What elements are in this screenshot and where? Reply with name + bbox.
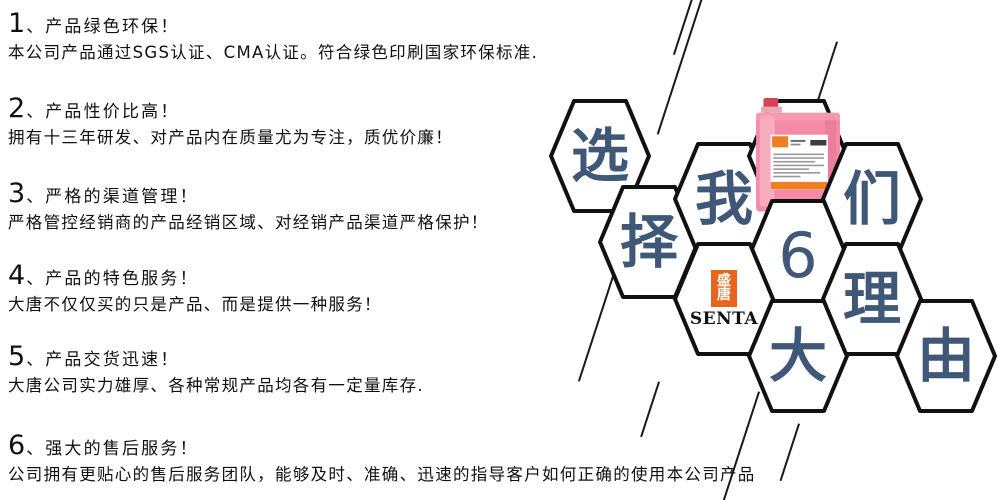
brand-seal-icon: 盛 唐 [711,270,737,307]
brand-seal-top: 盛 [717,274,731,288]
reason-item: 3 、 严格的渠道管理！ 严格管控经销商的产品经销区域、对经销产品渠道严格保护！ [8,180,489,232]
reason-separator: 、 [26,271,43,288]
reason-body: 严格管控经销商的产品经销区域、对经销产品渠道严格保护！ [8,214,489,232]
reason-separator: 、 [26,352,43,369]
reason-heading: 3 、 严格的渠道管理！ [8,180,489,207]
reason-number: 1 [8,10,25,37]
reason-number: 4 [8,262,25,289]
reason-body: 拥有十三年研发、对产品内在质量尤为专注，质优价廉！ [8,129,453,147]
reason-heading: 6 、 强大的售后服务！ [8,432,756,459]
reason-heading: 5 、 产品交货迅速！ [8,343,424,370]
reason-body: 公司拥有更贴心的售后服务团队，能够及时、准确、迅速的指导客户如何正确的使用本公司… [8,466,756,484]
reason-body: 本公司产品通过SGS认证、CMA认证。符合绿色印刷国家环保标准. [8,44,538,62]
reason-title: 产品绿色环保！ [45,19,179,36]
reason-heading: 2 、 产品性价比高！ [8,95,453,122]
hex-label: 们 [820,141,924,257]
hex-cell-you[interactable]: 由 [894,298,998,414]
reason-title: 产品的特色服务！ [45,271,199,288]
reason-separator: 、 [26,189,43,206]
hex-label: 由 [894,298,998,414]
reason-body: 大唐公司实力雄厚、各种常规产品均各有一定量库存. [8,377,424,395]
reason-separator: 、 [26,104,43,121]
brand-seal-bottom: 唐 [717,288,731,302]
reason-item: 5 、 产品交货迅速！ 大唐公司实力雄厚、各种常规产品均各有一定量库存. [8,343,424,395]
reason-item: 6 、 强大的售后服务！ 公司拥有更贴心的售后服务团队，能够及时、准确、迅速的指… [8,432,756,484]
reason-number: 6 [8,432,25,459]
reason-title: 产品交货迅速！ [45,352,179,369]
reason-number: 3 [8,180,25,207]
reason-title: 严格的渠道管理！ [45,189,199,206]
reason-number: 2 [8,95,25,122]
reason-heading: 1 、 产品绿色环保！ [8,10,538,37]
reason-item: 1 、 产品绿色环保！ 本公司产品通过SGS认证、CMA认证。符合绿色印刷国家环… [8,10,538,62]
reason-number: 5 [8,343,25,370]
reason-title: 强大的售后服务！ [45,441,199,458]
reason-item: 2 、 产品性价比高！ 拥有十三年研发、对产品内在质量尤为专注，质优价廉！ [8,95,453,147]
reason-separator: 、 [26,441,43,458]
hex-cell-men[interactable]: 们 [820,141,924,257]
reason-body: 大唐不仅仅买的只是产品、而是提供一种服务！ [8,296,382,314]
reason-item: 4 、 产品的特色服务！ 大唐不仅仅买的只是产品、而是提供一种服务！ [8,262,382,314]
reason-title: 产品性价比高！ [45,104,179,121]
promo-banner: 1 、 产品绿色环保！ 本公司产品通过SGS认证、CMA认证。符合绿色印刷国家环… [0,0,1000,500]
reason-separator: 、 [26,19,43,36]
reason-heading: 4 、 产品的特色服务！ [8,262,382,289]
